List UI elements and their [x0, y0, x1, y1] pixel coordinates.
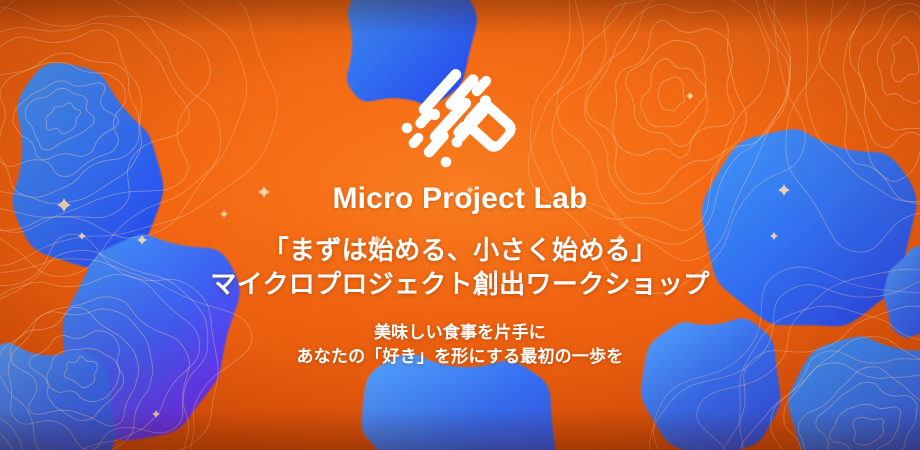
headline-line-1: 「まずは始める、小さく始める」 [263, 235, 658, 265]
headline-line-2: マイクロプロジェクト創出ワークショップ [210, 268, 709, 302]
subtitle-line-1: 美味しい食事を片手に [374, 323, 546, 342]
subtitle-line-2: あなたの「好き」を形にする最初の一歩を [297, 345, 624, 370]
micro-project-lab-logo-icon [398, 66, 522, 170]
promo-poster: Micro Project Lab 「まずは始める、小さく始める」 マイクロプロ… [0, 0, 920, 450]
brand-name: Micro Project Lab [332, 184, 587, 214]
poster-content: Micro Project Lab 「まずは始める、小さく始める」 マイクロプロ… [0, 0, 920, 450]
headline: 「まずは始める、小さく始める」 マイクロプロジェクト創出ワークショップ [210, 234, 709, 302]
subtitle: 美味しい食事を片手に あなたの「好き」を形にする最初の一歩を [297, 321, 624, 371]
